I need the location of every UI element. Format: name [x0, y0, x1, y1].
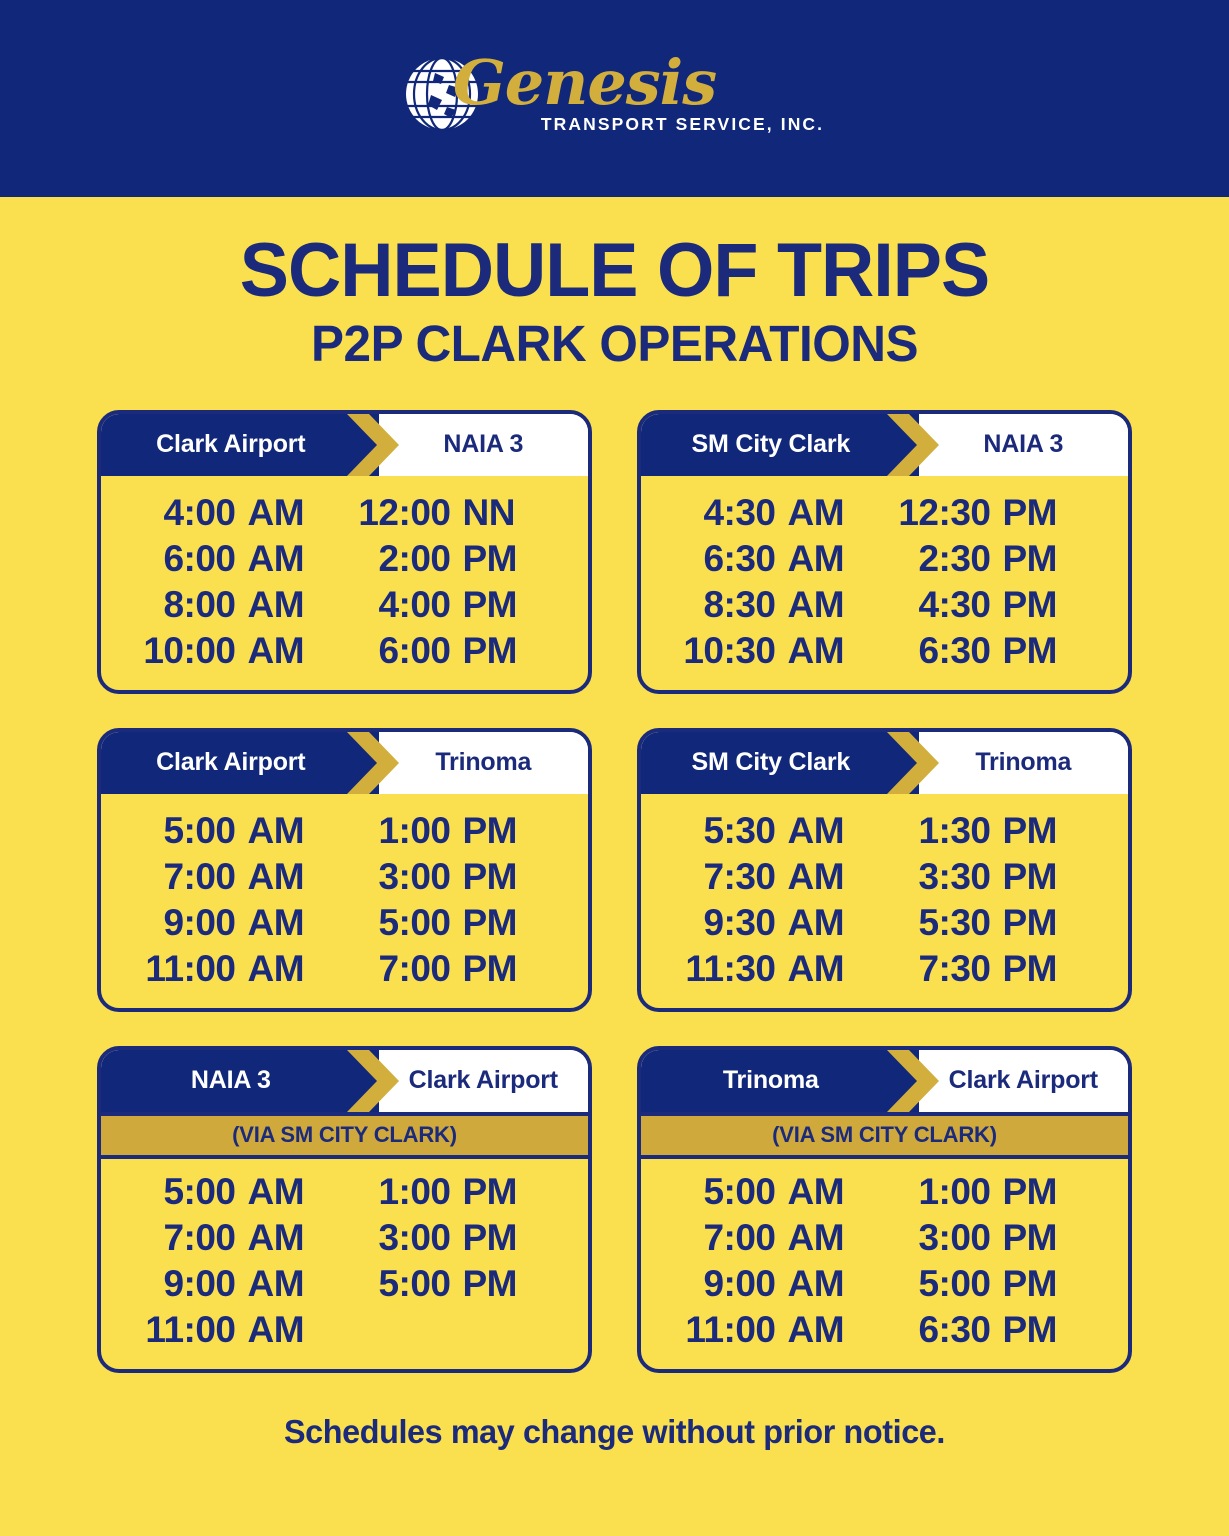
time-value: 6:30 — [670, 538, 788, 580]
departure-times: 5:30AM1:30PM7:30AM3:30PM9:30AM5:30PM11:3… — [641, 794, 1128, 1008]
route-via-banner: (VIA SM CITY CLARK) — [641, 1112, 1128, 1159]
time-meridiem: PM — [1003, 1217, 1058, 1259]
time-value: 6:30 — [885, 630, 1003, 672]
time-entry: 7:30AM — [670, 856, 885, 898]
route-header: TrinomaClark Airport — [641, 1050, 1128, 1112]
time-meridiem: AM — [788, 1263, 845, 1305]
departure-times: 5:00AM1:00PM7:00AM3:00PM9:00AM5:00PM11:0… — [641, 1159, 1128, 1369]
time-meridiem: AM — [788, 810, 845, 852]
time-entry: 5:30PM — [885, 902, 1100, 944]
time-entry: 6:00AM — [130, 538, 345, 580]
time-entry: 9:00AM — [130, 902, 345, 944]
time-meridiem: NN — [463, 492, 515, 534]
time-entry: 5:00AM — [670, 1171, 885, 1213]
time-entry: 4:00AM — [130, 492, 345, 534]
title-block: SCHEDULE OF TRIPS P2P CLARK OPERATIONS — [0, 231, 1229, 372]
time-row: 9:00AM5:00PM — [130, 900, 560, 946]
time-entry: 5:00AM — [130, 810, 345, 852]
route-destination: Clark Airport — [919, 1050, 1128, 1112]
time-row: 6:00AM2:00PM — [130, 536, 560, 582]
time-value: 9:30 — [670, 902, 788, 944]
time-row: 5:00AM1:00PM — [130, 808, 560, 854]
time-value: 12:30 — [885, 492, 1003, 534]
time-value: 5:00 — [130, 810, 248, 852]
time-value: 5:00 — [345, 902, 463, 944]
time-meridiem: PM — [1003, 630, 1058, 672]
time-value: 9:00 — [130, 1263, 248, 1305]
time-entry: 6:30PM — [885, 1309, 1100, 1351]
time-entry: 4:00PM — [345, 584, 560, 626]
time-meridiem: PM — [463, 902, 518, 944]
page-subtitle: P2P CLARK OPERATIONS — [18, 315, 1210, 372]
time-value: 11:00 — [130, 1309, 248, 1351]
time-meridiem: PM — [463, 810, 518, 852]
time-entry: 7:00PM — [345, 948, 560, 990]
time-meridiem: AM — [788, 538, 845, 580]
time-value: 5:00 — [130, 1171, 248, 1213]
time-meridiem: AM — [248, 810, 305, 852]
time-meridiem: AM — [248, 856, 305, 898]
time-entry: 11:00AM — [130, 948, 345, 990]
time-row: 9:30AM5:30PM — [670, 900, 1100, 946]
time-meridiem: PM — [1003, 584, 1058, 626]
route-header: NAIA 3Clark Airport — [101, 1050, 588, 1112]
time-entry: 7:30PM — [885, 948, 1100, 990]
time-meridiem: PM — [1003, 948, 1058, 990]
time-entry: 7:00AM — [670, 1217, 885, 1259]
time-value: 9:00 — [130, 902, 248, 944]
time-value: 4:00 — [345, 584, 463, 626]
time-meridiem: PM — [1003, 1309, 1058, 1351]
time-value: 5:30 — [885, 902, 1003, 944]
time-entry: 6:00PM — [345, 630, 560, 672]
time-value: 7:00 — [130, 856, 248, 898]
time-entry: 11:00AM — [130, 1309, 345, 1351]
time-row: 9:00AM5:00PM — [130, 1261, 560, 1307]
time-value: 3:00 — [345, 1217, 463, 1259]
time-value: 11:30 — [670, 948, 788, 990]
time-entry: 4:30PM — [885, 584, 1100, 626]
time-row: 7:00AM3:00PM — [130, 854, 560, 900]
schedule-card: Clark AirportNAIA 34:00AM12:00NN6:00AM2:… — [97, 410, 592, 694]
time-entry: 7:00AM — [130, 856, 345, 898]
time-meridiem: PM — [1003, 1171, 1058, 1213]
time-entry: 5:00PM — [345, 1263, 560, 1305]
schedule-card: SM City ClarkTrinoma5:30AM1:30PM7:30AM3:… — [637, 728, 1132, 1012]
time-entry: 3:00PM — [345, 856, 560, 898]
departure-times: 4:00AM12:00NN6:00AM2:00PM8:00AM4:00PM10:… — [101, 476, 588, 690]
time-entry: 5:30AM — [670, 810, 885, 852]
time-meridiem: PM — [463, 538, 518, 580]
time-entry: 11:30AM — [670, 948, 885, 990]
time-value: 5:00 — [885, 1263, 1003, 1305]
time-meridiem: PM — [1003, 810, 1058, 852]
time-value: 6:00 — [345, 630, 463, 672]
route-origin: Trinoma — [641, 1050, 919, 1112]
time-value: 1:00 — [885, 1171, 1003, 1213]
time-value: 4:00 — [130, 492, 248, 534]
time-row: 8:00AM4:00PM — [130, 582, 560, 628]
time-meridiem: PM — [1003, 492, 1058, 534]
time-row: 11:30AM7:30PM — [670, 946, 1100, 992]
time-row: 7:00AM3:00PM — [670, 1215, 1100, 1261]
time-entry: 12:30PM — [885, 492, 1100, 534]
time-value: 1:00 — [345, 810, 463, 852]
time-value: 2:30 — [885, 538, 1003, 580]
time-meridiem: AM — [248, 630, 305, 672]
time-entry: 9:30AM — [670, 902, 885, 944]
route-origin: SM City Clark — [641, 414, 919, 476]
departure-times: 4:30AM12:30PM6:30AM2:30PM8:30AM4:30PM10:… — [641, 476, 1128, 690]
time-entry: 3:00PM — [885, 1217, 1100, 1259]
time-value: 3:00 — [885, 1217, 1003, 1259]
time-entry: 8:00AM — [130, 584, 345, 626]
time-value: 5:00 — [670, 1171, 788, 1213]
time-meridiem: AM — [788, 948, 845, 990]
time-value: 6:00 — [130, 538, 248, 580]
schedule-card: NAIA 3Clark Airport(VIA SM CITY CLARK)5:… — [97, 1046, 592, 1373]
time-meridiem: AM — [788, 902, 845, 944]
time-row: 10:00AM6:00PM — [130, 628, 560, 674]
time-meridiem: AM — [788, 492, 845, 534]
route-header: Clark AirportTrinoma — [101, 732, 588, 794]
route-destination: NAIA 3 — [919, 414, 1128, 476]
time-entry: 5:00AM — [130, 1171, 345, 1213]
route-origin: Clark Airport — [101, 732, 379, 794]
time-value: 8:30 — [670, 584, 788, 626]
schedule-card-grid: Clark AirportNAIA 34:00AM12:00NN6:00AM2:… — [97, 410, 1132, 1373]
route-destination: Clark Airport — [379, 1050, 588, 1112]
route-destination: NAIA 3 — [379, 414, 588, 476]
time-meridiem: AM — [788, 1217, 845, 1259]
time-meridiem: AM — [248, 584, 305, 626]
route-destination: Trinoma — [919, 732, 1128, 794]
time-entry: 3:30PM — [885, 856, 1100, 898]
time-row: 4:30AM12:30PM — [670, 490, 1100, 536]
time-value: 7:00 — [130, 1217, 248, 1259]
page-title: SCHEDULE OF TRIPS — [18, 231, 1210, 312]
route-origin: SM City Clark — [641, 732, 919, 794]
time-meridiem: AM — [248, 1171, 305, 1213]
time-meridiem: PM — [1003, 902, 1058, 944]
time-value: 12:00 — [345, 492, 463, 534]
departure-times: 5:00AM1:00PM7:00AM3:00PM9:00AM5:00PM11:0… — [101, 794, 588, 1008]
time-value: 11:00 — [130, 948, 248, 990]
time-entry: 9:00AM — [130, 1263, 345, 1305]
time-entry: 1:00PM — [345, 1171, 560, 1213]
time-meridiem: AM — [788, 1171, 845, 1213]
time-value: 8:00 — [130, 584, 248, 626]
time-value: 11:00 — [670, 1309, 788, 1351]
time-entry: 4:30AM — [670, 492, 885, 534]
time-meridiem: AM — [248, 948, 305, 990]
time-entry: 2:30PM — [885, 538, 1100, 580]
time-row: 5:30AM1:30PM — [670, 808, 1100, 854]
brand-header: Genesis TRANSPORT SERVICE, INC. — [0, 0, 1229, 197]
route-header: Clark AirportNAIA 3 — [101, 414, 588, 476]
time-entry: 1:00PM — [345, 810, 560, 852]
time-meridiem: PM — [463, 584, 518, 626]
time-meridiem: PM — [463, 948, 518, 990]
time-row: 5:00AM1:00PM — [130, 1169, 560, 1215]
time-value: 7:00 — [670, 1217, 788, 1259]
time-entry: 10:30AM — [670, 630, 885, 672]
time-entry: 5:00PM — [345, 902, 560, 944]
time-entry: 9:00AM — [670, 1263, 885, 1305]
time-value: 7:00 — [345, 948, 463, 990]
time-meridiem: AM — [788, 1309, 845, 1351]
time-meridiem: AM — [248, 1263, 305, 1305]
time-value: 3:30 — [885, 856, 1003, 898]
time-entry: 6:30AM — [670, 538, 885, 580]
time-row: 7:00AM3:00PM — [130, 1215, 560, 1261]
time-value: 9:00 — [670, 1263, 788, 1305]
time-row: 8:30AM4:30PM — [670, 582, 1100, 628]
schedule-card: TrinomaClark Airport(VIA SM CITY CLARK)5… — [637, 1046, 1132, 1373]
time-meridiem: PM — [463, 1171, 518, 1213]
time-value: 1:00 — [345, 1171, 463, 1213]
time-meridiem: PM — [463, 856, 518, 898]
time-entry: 10:00AM — [130, 630, 345, 672]
time-meridiem: PM — [1003, 856, 1058, 898]
time-value: 10:00 — [130, 630, 248, 672]
logo-name: Genesis — [453, 54, 716, 113]
time-value: 2:00 — [345, 538, 463, 580]
schedule-card: Clark AirportTrinoma5:00AM1:00PM7:00AM3:… — [97, 728, 592, 1012]
time-row: 11:00AM7:00PM — [130, 946, 560, 992]
time-meridiem: PM — [463, 1263, 518, 1305]
time-value: 4:30 — [885, 584, 1003, 626]
time-meridiem: AM — [788, 584, 845, 626]
time-meridiem: AM — [788, 856, 845, 898]
route-header: SM City ClarkNAIA 3 — [641, 414, 1128, 476]
time-meridiem: PM — [1003, 1263, 1058, 1305]
time-value: 7:30 — [670, 856, 788, 898]
time-value: 4:30 — [670, 492, 788, 534]
route-origin: NAIA 3 — [101, 1050, 379, 1112]
route-origin: Clark Airport — [101, 414, 379, 476]
route-header: SM City ClarkTrinoma — [641, 732, 1128, 794]
time-meridiem: PM — [1003, 538, 1058, 580]
time-row: 4:00AM12:00NN — [130, 490, 560, 536]
time-entry: 1:30PM — [885, 810, 1100, 852]
time-entry: 7:00AM — [130, 1217, 345, 1259]
time-value: 6:30 — [885, 1309, 1003, 1351]
route-destination: Trinoma — [379, 732, 588, 794]
time-entry: 6:30PM — [885, 630, 1100, 672]
genesis-logo: Genesis TRANSPORT SERVICE, INC. — [405, 54, 824, 136]
route-via-banner: (VIA SM CITY CLARK) — [101, 1112, 588, 1159]
time-meridiem: AM — [248, 902, 305, 944]
time-meridiem: AM — [248, 492, 305, 534]
time-entry: 5:00PM — [885, 1263, 1100, 1305]
schedule-poster: Genesis TRANSPORT SERVICE, INC. SCHEDULE… — [0, 0, 1229, 1536]
schedule-card: SM City ClarkNAIA 34:30AM12:30PM6:30AM2:… — [637, 410, 1132, 694]
time-meridiem: AM — [248, 1309, 305, 1351]
time-value: 10:30 — [670, 630, 788, 672]
time-meridiem: PM — [463, 630, 518, 672]
time-meridiem: PM — [463, 1217, 518, 1259]
departure-times: 5:00AM1:00PM7:00AM3:00PM9:00AM5:00PM11:0… — [101, 1159, 588, 1369]
logo-wordmark: Genesis TRANSPORT SERVICE, INC. — [453, 54, 824, 136]
time-entry: 2:00PM — [345, 538, 560, 580]
time-entry: 3:00PM — [345, 1217, 560, 1259]
time-entry: 11:00AM — [670, 1309, 885, 1351]
time-row: 11:00AM — [130, 1307, 560, 1353]
time-row: 11:00AM6:30PM — [670, 1307, 1100, 1353]
time-value: 5:00 — [345, 1263, 463, 1305]
time-row: 7:30AM3:30PM — [670, 854, 1100, 900]
time-value: 1:30 — [885, 810, 1003, 852]
time-entry: 12:00NN — [345, 492, 560, 534]
time-entry: 8:30AM — [670, 584, 885, 626]
time-meridiem: AM — [788, 630, 845, 672]
time-row: 5:00AM1:00PM — [670, 1169, 1100, 1215]
time-row: 6:30AM2:30PM — [670, 536, 1100, 582]
time-value: 3:00 — [345, 856, 463, 898]
time-value: 7:30 — [885, 948, 1003, 990]
time-meridiem: AM — [248, 1217, 305, 1259]
time-value: 5:30 — [670, 810, 788, 852]
disclaimer-note: Schedules may change without prior notic… — [12, 1413, 1216, 1451]
time-row: 9:00AM5:00PM — [670, 1261, 1100, 1307]
time-row: 10:30AM6:30PM — [670, 628, 1100, 674]
time-meridiem: AM — [248, 538, 305, 580]
time-entry: 1:00PM — [885, 1171, 1100, 1213]
logo-tagline: TRANSPORT SERVICE, INC. — [541, 114, 824, 135]
